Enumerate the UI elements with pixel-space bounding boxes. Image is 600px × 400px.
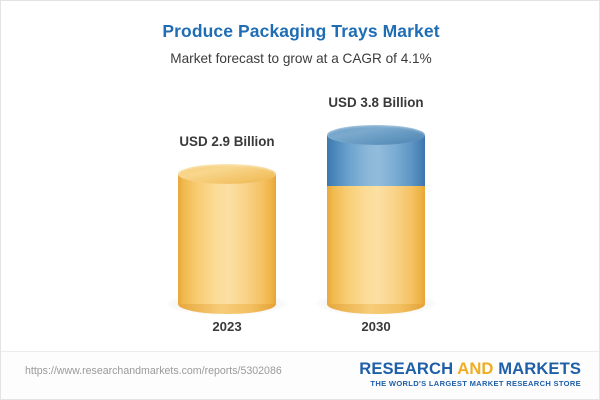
logo-word-markets: MARKETS [494,359,581,378]
plot-area: USD 2.9 Billion 2023 USD 3.8 Billion [1,1,600,353]
logo-word-research: RESEARCH [359,359,457,378]
bar-value-label-2030: USD 3.8 Billion [328,95,423,110]
chart-card: Produce Packaging Trays Market Market fo… [0,0,600,400]
bar-segment-base-2030 [327,176,425,304]
cylinder-top-growth-2030 [327,125,425,145]
logo-wordmark: RESEARCH AND MARKETS [359,360,581,377]
cylinder-body-2023 [178,174,276,304]
footer: https://www.researchandmarkets.com/repor… [1,351,600,399]
bar-group-2030: USD 3.8 Billion 2030 [327,1,425,353]
logo-word-and: AND [457,359,493,378]
bar-category-label-2023: 2023 [212,319,241,334]
cylinder-top-2023 [178,164,276,184]
source-url-link[interactable]: https://www.researchandmarkets.com/repor… [25,365,282,377]
bar-segment-base-2023 [178,164,276,304]
logo-tagline: THE WORLD'S LARGEST MARKET RESEARCH STOR… [359,379,581,388]
bar-segment-growth-2030 [327,125,425,186]
bar-category-label-2030: 2030 [361,319,390,334]
brand-logo[interactable]: RESEARCH AND MARKETS THE WORLD'S LARGEST… [359,360,581,388]
cylinder-body-base-2030 [327,176,425,304]
bar-group-2023: USD 2.9 Billion 2023 [178,1,276,353]
bar-value-label-2023: USD 2.9 Billion [179,134,274,149]
